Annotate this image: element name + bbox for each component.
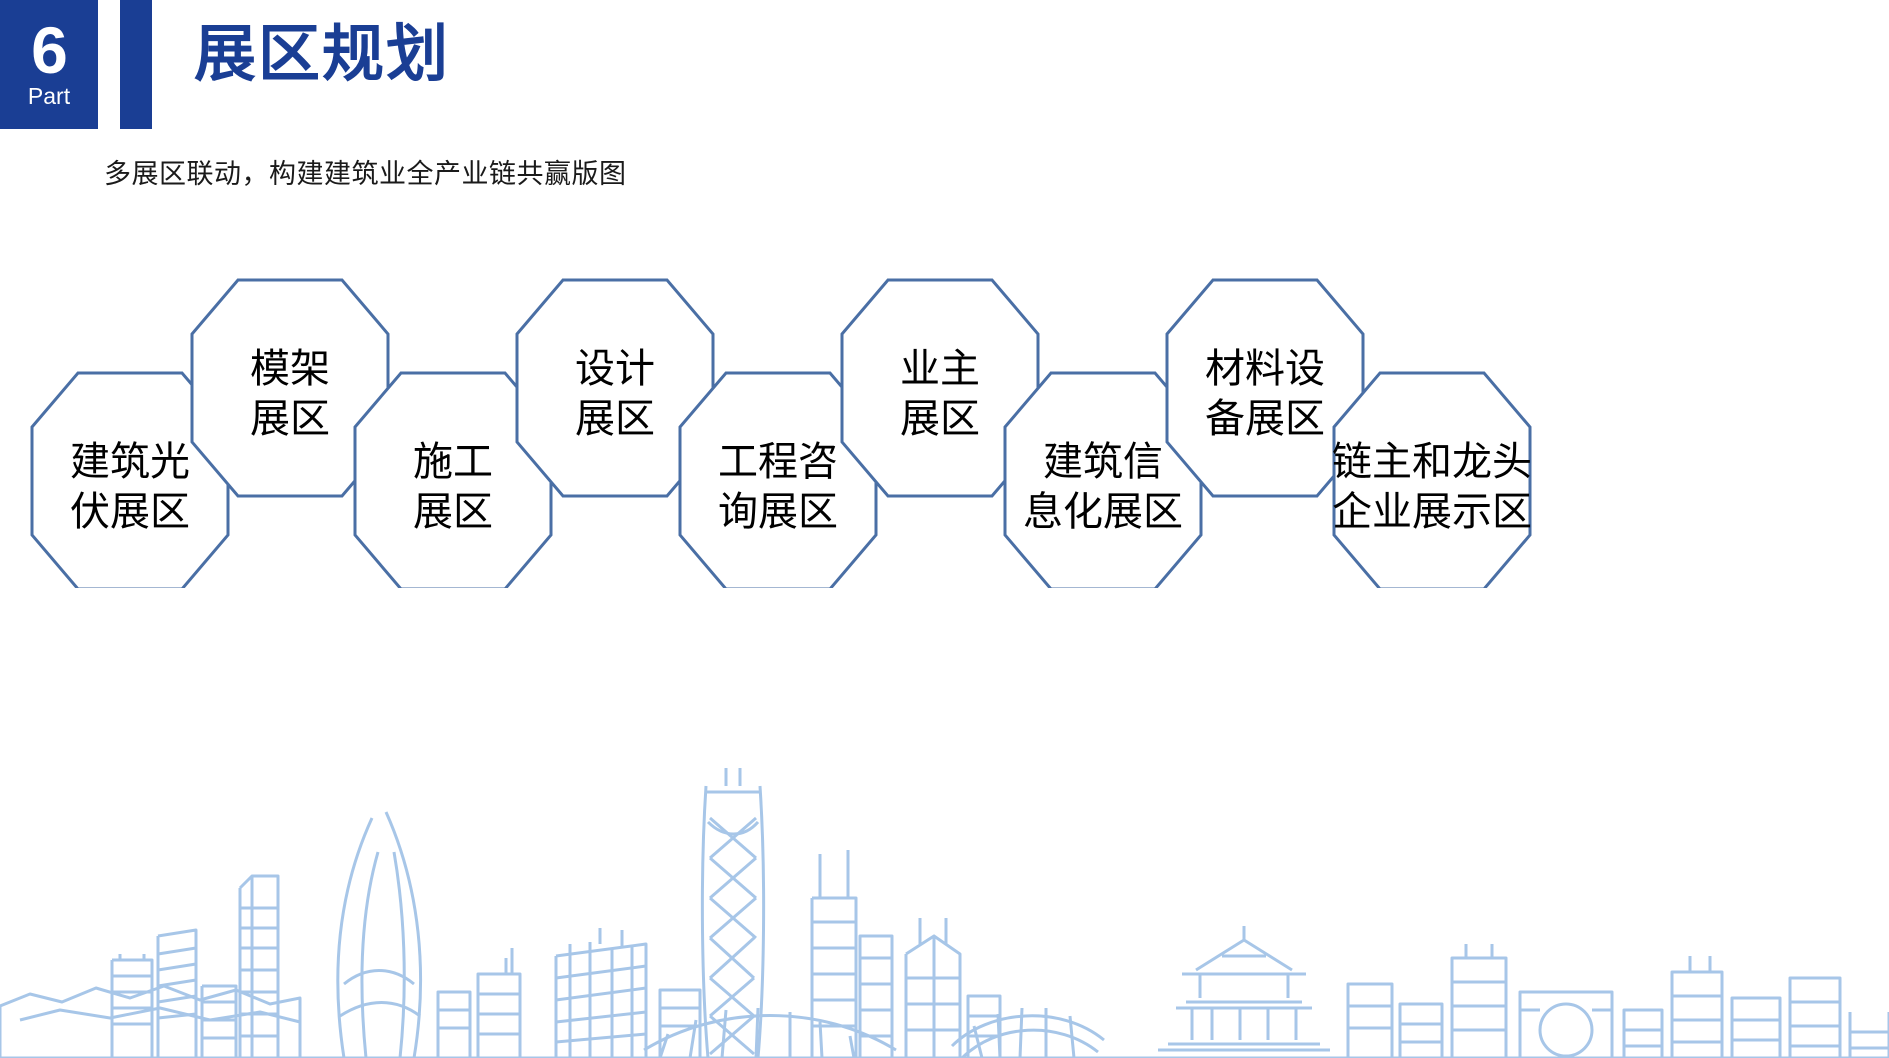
hexagon-label-hex-7-line2: 息化展区	[1023, 490, 1183, 534]
part-badge: 6 Part	[0, 0, 98, 129]
hexagon-label-hex-6-line2: 展区	[900, 397, 980, 441]
hexagon-label-hex-9-line1: 链主和龙头	[1332, 440, 1532, 484]
slide-root: 6 Part 展区规划 多展区联动，构建建筑业全产业链共赢版图 建筑光伏展区模架…	[0, 0, 1889, 1058]
slide-header: 6 Part 展区规划	[0, 0, 450, 129]
hex-diagram-svg: 建筑光伏展区模架展区施工展区设计展区工程咨询展区业主展区建筑信息化展区材料设备展…	[0, 268, 1889, 588]
hexagon-label-hex-9-line2: 企业展示区	[1332, 490, 1532, 534]
part-word-label: Part	[28, 85, 70, 108]
city-skyline-illustration	[0, 758, 1889, 1058]
hexagon-label-hex-3-line2: 展区	[413, 490, 493, 534]
hexagon-label-hex-1-line1: 建筑光	[70, 440, 190, 484]
hexagon-label-hex-4-line1: 设计	[575, 347, 655, 391]
header-accent-bar	[120, 0, 152, 129]
hexagon-label-hex-4-line2: 展区	[575, 397, 655, 441]
part-number: 6	[31, 17, 67, 83]
skyline-svg	[0, 758, 1889, 1058]
hexagon-label-hex-8-line2: 备展区	[1205, 397, 1325, 441]
exhibition-zone-hex-diagram: 建筑光伏展区模架展区施工展区设计展区工程咨询展区业主展区建筑信息化展区材料设备展…	[0, 268, 1889, 588]
page-subtitle: 多展区联动，构建建筑业全产业链共赢版图	[104, 152, 627, 191]
hexagon-label-hex-1-line2: 伏展区	[70, 490, 190, 534]
hexagon-label-hex-5-line2: 询展区	[718, 490, 838, 534]
hexagon-label-hex-8-line1: 材料设	[1205, 347, 1325, 391]
hexagon-label-hex-7-line1: 建筑信	[1043, 440, 1163, 484]
hexagon-label-hex-5-line1: 工程咨	[718, 440, 838, 484]
hexagon-label-hex-2-line2: 展区	[250, 397, 330, 441]
hexagon-label-hex-6-line1: 业主	[900, 347, 980, 391]
hexagon-label-hex-2-line1: 模架	[250, 347, 330, 391]
hexagon-label-hex-3-line1: 施工	[413, 440, 493, 484]
page-title: 展区规划	[194, 24, 450, 86]
